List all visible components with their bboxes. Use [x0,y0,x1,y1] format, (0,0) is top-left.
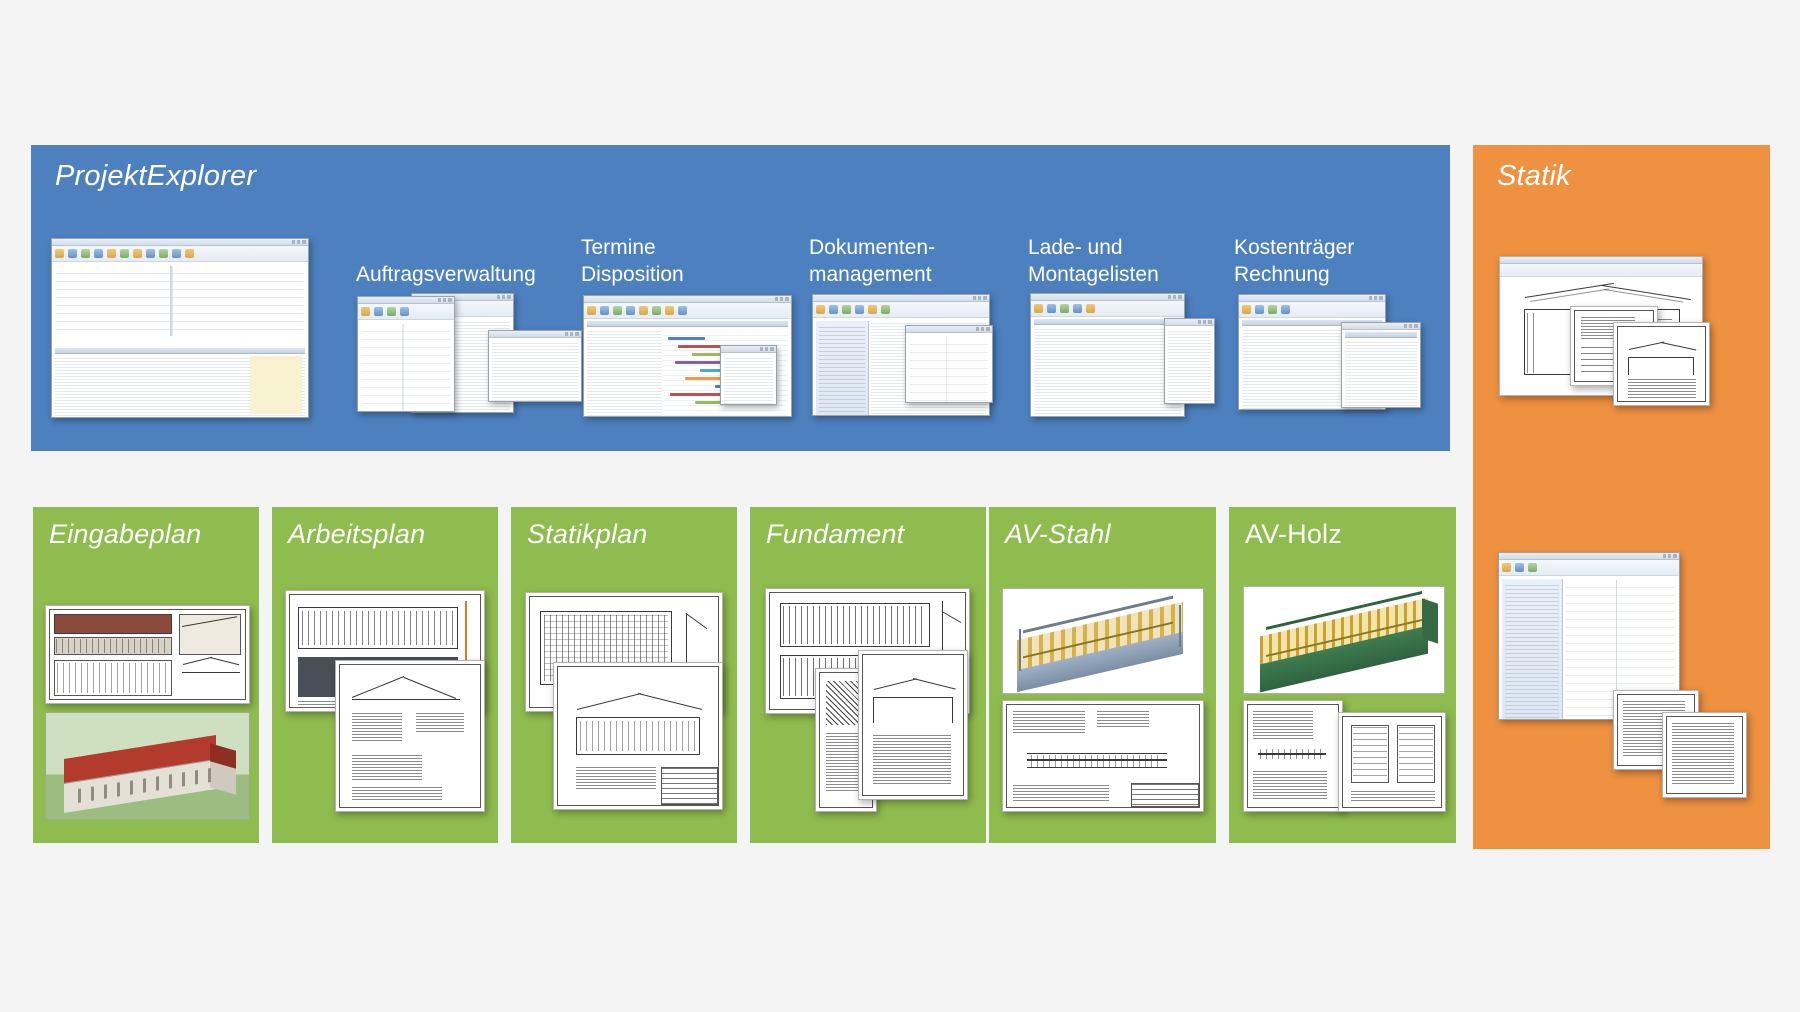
panel-title-fundament: Fundament [766,519,904,550]
fundament-section-sheet[interactable] [858,650,968,800]
panel-title-eingabeplan: Eingabeplan [49,519,201,550]
form-fields [56,266,304,336]
highlight-column [250,356,302,414]
panel-title-arbeitsplan: Arbeitsplan [288,519,425,550]
window-front[interactable] [1341,322,1421,408]
av-stahl-3d-steel-roof[interactable] [1002,588,1204,694]
panel-title-statikplan: Statikplan [527,519,648,550]
window-mid[interactable] [357,296,455,412]
panel-title-av-stahl: AV-Stahl [1005,519,1111,550]
av-holz-part-drawing-2[interactable] [1338,712,1446,812]
statik-detail-sheet-2[interactable] [1613,322,1710,406]
grid-header [55,348,305,354]
av-stahl-part-drawing[interactable] [1002,700,1204,812]
window-front[interactable] [905,325,993,403]
window-front[interactable] [488,330,582,402]
statikplan-section-sheet[interactable] [553,662,723,810]
window-titlebar [52,239,308,246]
window-back[interactable] [1030,293,1185,417]
window-toolbar [52,246,308,262]
module-label-dokumentenmanagement: Dokumenten- management [809,234,935,288]
eingabeplan-elevations-sheet[interactable] [45,605,250,704]
module-label-lade-montagelisten: Lade- und Montagelisten [1028,234,1159,288]
diagram-canvas: ProjektExplorer Auftragsverwaltung Te [0,0,1800,1012]
panel-title-projektexplorer: ProjektExplorer [55,160,256,193]
module-label-kostentraeger-rechnung: Kostenträger Rechnung [1234,234,1354,288]
arbeitsplan-detail-sheet[interactable] [335,660,485,812]
av-holz-3d-timber-roof[interactable] [1243,586,1445,694]
window-front[interactable] [720,345,777,405]
av-holz-part-drawing-1[interactable] [1243,700,1343,812]
panel-title-statik: Statik [1497,160,1571,193]
window-front[interactable] [1164,318,1215,404]
projektexplorer-main-screenshot[interactable] [51,238,309,418]
eingabeplan-3d-render[interactable] [45,712,250,820]
module-label-termine-disposition: Termine Disposition [581,234,684,288]
panel-title-av-holz: AV-Holz [1245,519,1342,550]
window-body [52,262,308,418]
statik-report-sheet-2[interactable] [1662,712,1747,798]
module-label-auftragsverwaltung: Auftragsverwaltung [356,261,536,288]
